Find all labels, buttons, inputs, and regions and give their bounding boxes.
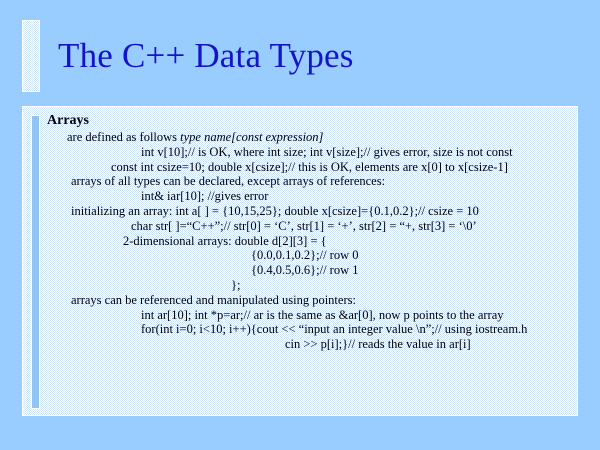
content-line: };	[45, 278, 573, 293]
slide: The C++ Data Types Arrays are defined as…	[0, 0, 600, 450]
content-line: char str[ ]=“C++”;// str[0] = ‘C’, str[1…	[45, 219, 573, 234]
content-body: Arrays are defined as follows type name[…	[45, 112, 573, 413]
content-line: are defined as follows type name[const e…	[45, 130, 573, 145]
content-line: int ar[10]; int *p=ar;// ar is the same …	[45, 308, 573, 323]
page-title: The C++ Data Types	[58, 36, 354, 76]
content-lines: are defined as follows type name[const e…	[45, 130, 573, 352]
content-line: cin >> p[i];}// reads the value in ar[i]	[45, 337, 573, 352]
line-text: are defined as follows	[67, 130, 180, 144]
content-line: 2-dimensional arrays: double d[2][3] = {	[45, 234, 573, 249]
content-line: int& iar[10]; //gives error	[45, 189, 573, 204]
content-line: {0.4,0.5,0.6};// row 1	[45, 263, 573, 278]
content-line: for(int i=0; i<10; i++){cout << “input a…	[45, 322, 573, 337]
content-frame: Arrays are defined as follows type name[…	[22, 106, 578, 416]
content-accent-bar	[31, 115, 40, 409]
content-line: const int csize=10; double x[csize];// t…	[45, 160, 573, 175]
content-line: int v[10];// is OK, where int size; int …	[45, 145, 573, 160]
slide-title-block: The C++ Data Types	[22, 20, 562, 92]
content-heading: Arrays	[45, 112, 573, 130]
title-accent-bar	[22, 20, 40, 92]
content-line: {0.0,0.1,0.2};// row 0	[45, 248, 573, 263]
content-line: initializing an array: int a[ ] = {10,15…	[45, 204, 573, 219]
line-text-italic: type name[const expression]	[180, 130, 323, 144]
content-line: arrays can be referenced and manipulated…	[45, 293, 573, 308]
content-line: arrays of all types can be declared, exc…	[45, 174, 573, 189]
